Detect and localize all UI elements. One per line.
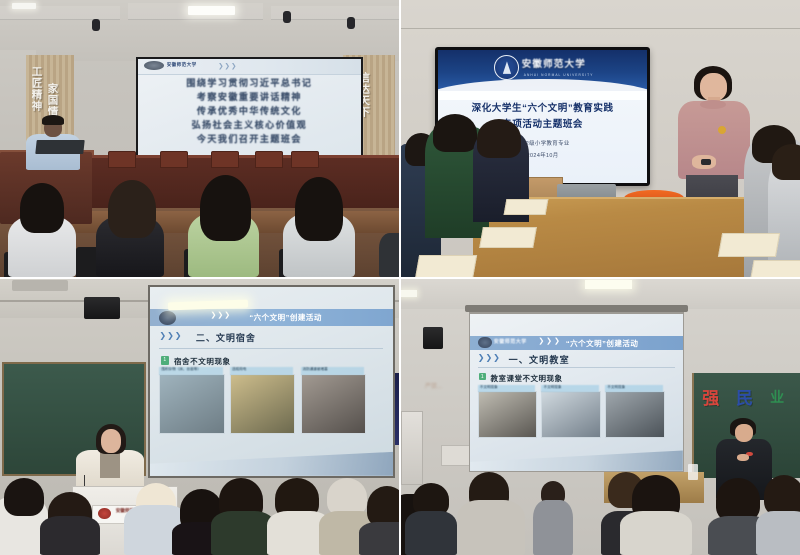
- slide-body-text: 围绕学习贯彻习近平总书记 考察安徽重要讲话精神 传承优秀中华传统文化 弘扬社会主…: [158, 78, 341, 148]
- slide-line: 围绕学习贯彻习近平总书记: [158, 78, 341, 92]
- spotlight: [92, 19, 100, 31]
- slide-divider: [159, 348, 383, 349]
- fluorescent-tube-light: [585, 280, 633, 288]
- slide-thumbnail: [159, 374, 224, 435]
- slide-logo-text: 安徽师范大学: [494, 338, 527, 345]
- stage-chair: [160, 151, 188, 168]
- screen-roller-case: [465, 305, 688, 312]
- slide-surface: 安徽师范大学 ❯❯❯ “六个文明”创建活动 ❯❯❯ 一、文明教室 1 教室课堂不…: [470, 314, 682, 471]
- thumbnail-caption: 不文明现象: [541, 385, 598, 392]
- audience-head: [4, 478, 44, 517]
- thumbnail-caption: 消防通道被堵塞: [301, 367, 364, 376]
- slide-line: 考察安徽重要讲话精神: [158, 92, 341, 106]
- notebook: [750, 260, 800, 277]
- slide-surface: 安徽师范大学 ❯❯❯ 围绕学习贯彻习近平总书记 考察安徽重要讲话精神 传承优秀中…: [138, 59, 361, 160]
- notebook: [503, 199, 548, 215]
- slide-thumbnail: [541, 391, 600, 439]
- laptop: [35, 140, 84, 154]
- notebook: [415, 255, 477, 277]
- panel-auditorium-opening-remarks: 工匠精神 家国情怀 信达天下 安徽师范大学 ❯❯❯ 围绕学习贯彻习近平总书记 考…: [0, 0, 399, 277]
- thumbnail-caption: 不文明现象: [478, 385, 535, 392]
- chevron-right-icon: ❯❯❯: [538, 337, 562, 345]
- slide-swoosh: [470, 449, 682, 471]
- thumbnail-caption: 违规用电: [230, 367, 293, 376]
- section-chevron-icon: ❯❯❯: [159, 331, 182, 340]
- panel-classroom-civilized-dormitory: ❯❯❯ “六个文明”创建活动 ❯❯❯ 二、文明宿舍 1 宿舍不文明现象 囤积杂物…: [0, 279, 399, 555]
- university-logo-icon: [478, 337, 492, 349]
- audience-torso: [211, 511, 275, 555]
- audience-head: [200, 175, 252, 241]
- audience-torso: [379, 233, 399, 277]
- speaker-face: [101, 429, 121, 452]
- photo-collage: 工匠精神 家国情怀 信达天下 安徽师范大学 ❯❯❯ 围绕学习贯彻习近平总书记 考…: [0, 0, 800, 555]
- blackboard-word-3: 业: [770, 387, 784, 407]
- slide-line: 今天我们召开主题班会: [158, 134, 341, 148]
- slide-thumbnail: [605, 391, 664, 439]
- blackboard-word-2: 民: [736, 384, 753, 409]
- slide-thumbnail: [301, 374, 366, 435]
- audience-head: [20, 183, 64, 233]
- slide-thumbnail: [478, 391, 537, 439]
- chevron-right-icon: ❯❯❯: [218, 62, 237, 70]
- panel-seminar-room-theme-class-meeting: 安徽师范大学 ANHUI NORMAL UNIVERSITY 深化大学生“六个文…: [401, 0, 800, 277]
- speaker-face: [735, 424, 753, 442]
- slide-section-title: 二、文明宿舍: [196, 331, 256, 344]
- speaker-hand: [737, 454, 749, 461]
- wristwatch-icon: [701, 159, 711, 165]
- speaker-scarf: [100, 450, 120, 478]
- thumbnail-caption: 不文明现象: [605, 385, 662, 392]
- audience-torso: [40, 516, 100, 555]
- panel-classroom-civilized-lecture-room: 强 民 业 严禁... 安徽师范大学 ❯❯❯ “六个文明”创建活动 ❯❯❯ 一、…: [401, 279, 800, 555]
- stage-chair: [291, 151, 319, 168]
- spotlight: [283, 11, 291, 23]
- slide-header-title: “六个文明”创建活动: [566, 338, 639, 349]
- lapel-pin-icon: [718, 126, 726, 134]
- slide-bullet-text: 教室课堂不文明现象: [491, 373, 563, 384]
- notebook: [479, 227, 537, 248]
- ceiling-light: [12, 3, 36, 9]
- wall-speaker: [423, 327, 443, 349]
- audience-torso: [457, 500, 525, 555]
- wall-seam: [401, 28, 800, 29]
- stage-chair: [255, 151, 283, 168]
- slide-badge-number: 1: [161, 356, 170, 365]
- audience-torso: [533, 500, 573, 555]
- projection-screen: 安徽师范大学 ❯❯❯ “六个文明”创建活动 ❯❯❯ 一、文明教室 1 教室课堂不…: [469, 312, 684, 472]
- attendee-head: [433, 114, 477, 153]
- stage-chair: [108, 151, 136, 168]
- speaker-hair: [42, 115, 64, 125]
- slide-divider: [478, 367, 676, 368]
- university-name-cn: 安徽师范大学: [522, 56, 586, 70]
- slide-badge-number: 1: [479, 373, 486, 381]
- ceiling-fan: [12, 280, 68, 291]
- slide-line: 弘扬社会主义核心价值观: [158, 120, 341, 134]
- audience-head: [295, 177, 343, 241]
- wall-writing: 严禁...: [425, 381, 442, 390]
- projection-screen: 安徽师范大学 ❯❯❯ 围绕学习贯彻习近平总书记 考察安徽重要讲话精神 传承优秀中…: [136, 57, 363, 162]
- audience-torso: [405, 511, 457, 555]
- spotlight: [347, 17, 355, 29]
- slide-header-title: “六个文明”创建活动: [249, 312, 322, 323]
- audience-torso: [359, 522, 399, 555]
- thumbnail-caption: 囤积杂物（床、台面等）: [159, 367, 222, 376]
- projection-screen: ❯❯❯ “六个文明”创建活动 ❯❯❯ 二、文明宿舍 1 宿舍不文明现象 囤积杂物…: [148, 285, 395, 478]
- air-conditioner: [401, 411, 423, 485]
- slide-surface: ❯❯❯ “六个文明”创建活动 ❯❯❯ 二、文明宿舍 1 宿舍不文明现象 囤积杂物…: [150, 287, 393, 476]
- attendee-head: [772, 144, 800, 180]
- ceiling-light: [188, 6, 236, 15]
- slide-swoosh: [150, 449, 393, 475]
- slide-logo-text: 安徽师范大学: [167, 62, 197, 68]
- slide-line: 传承优秀中华传统文化: [158, 106, 341, 120]
- audience-torso: [620, 511, 692, 555]
- chevron-right-icon: ❯❯❯: [210, 311, 231, 319]
- blackboard-word-1: 强: [702, 384, 719, 409]
- slide-title-line1: 深化大学生“六个文明”教育实践: [450, 100, 634, 114]
- wall-slogan-left-1: 工匠精神: [30, 66, 45, 112]
- section-chevron-icon: ❯❯❯: [478, 353, 501, 362]
- slide-swoosh: [438, 79, 647, 100]
- audience-torso: [756, 511, 800, 555]
- presenter-body: [678, 101, 750, 179]
- slide-bullet-text: 宿舍不文明现象: [174, 356, 231, 367]
- notebook: [718, 233, 780, 257]
- stage-chair: [211, 151, 239, 168]
- slide-section-title: 一、文明教室: [509, 353, 570, 366]
- audience-head: [716, 478, 760, 522]
- fluorescent-tube-light: [401, 290, 417, 297]
- audience-head: [108, 180, 156, 238]
- water-bottle: [688, 464, 698, 481]
- wall-speaker: [84, 297, 120, 319]
- slide-thumbnail: [230, 374, 295, 435]
- university-logo-icon: [98, 508, 111, 519]
- university-name-en: ANHUI NORMAL UNIVERSITY: [524, 73, 594, 77]
- attendee-head: [477, 119, 521, 158]
